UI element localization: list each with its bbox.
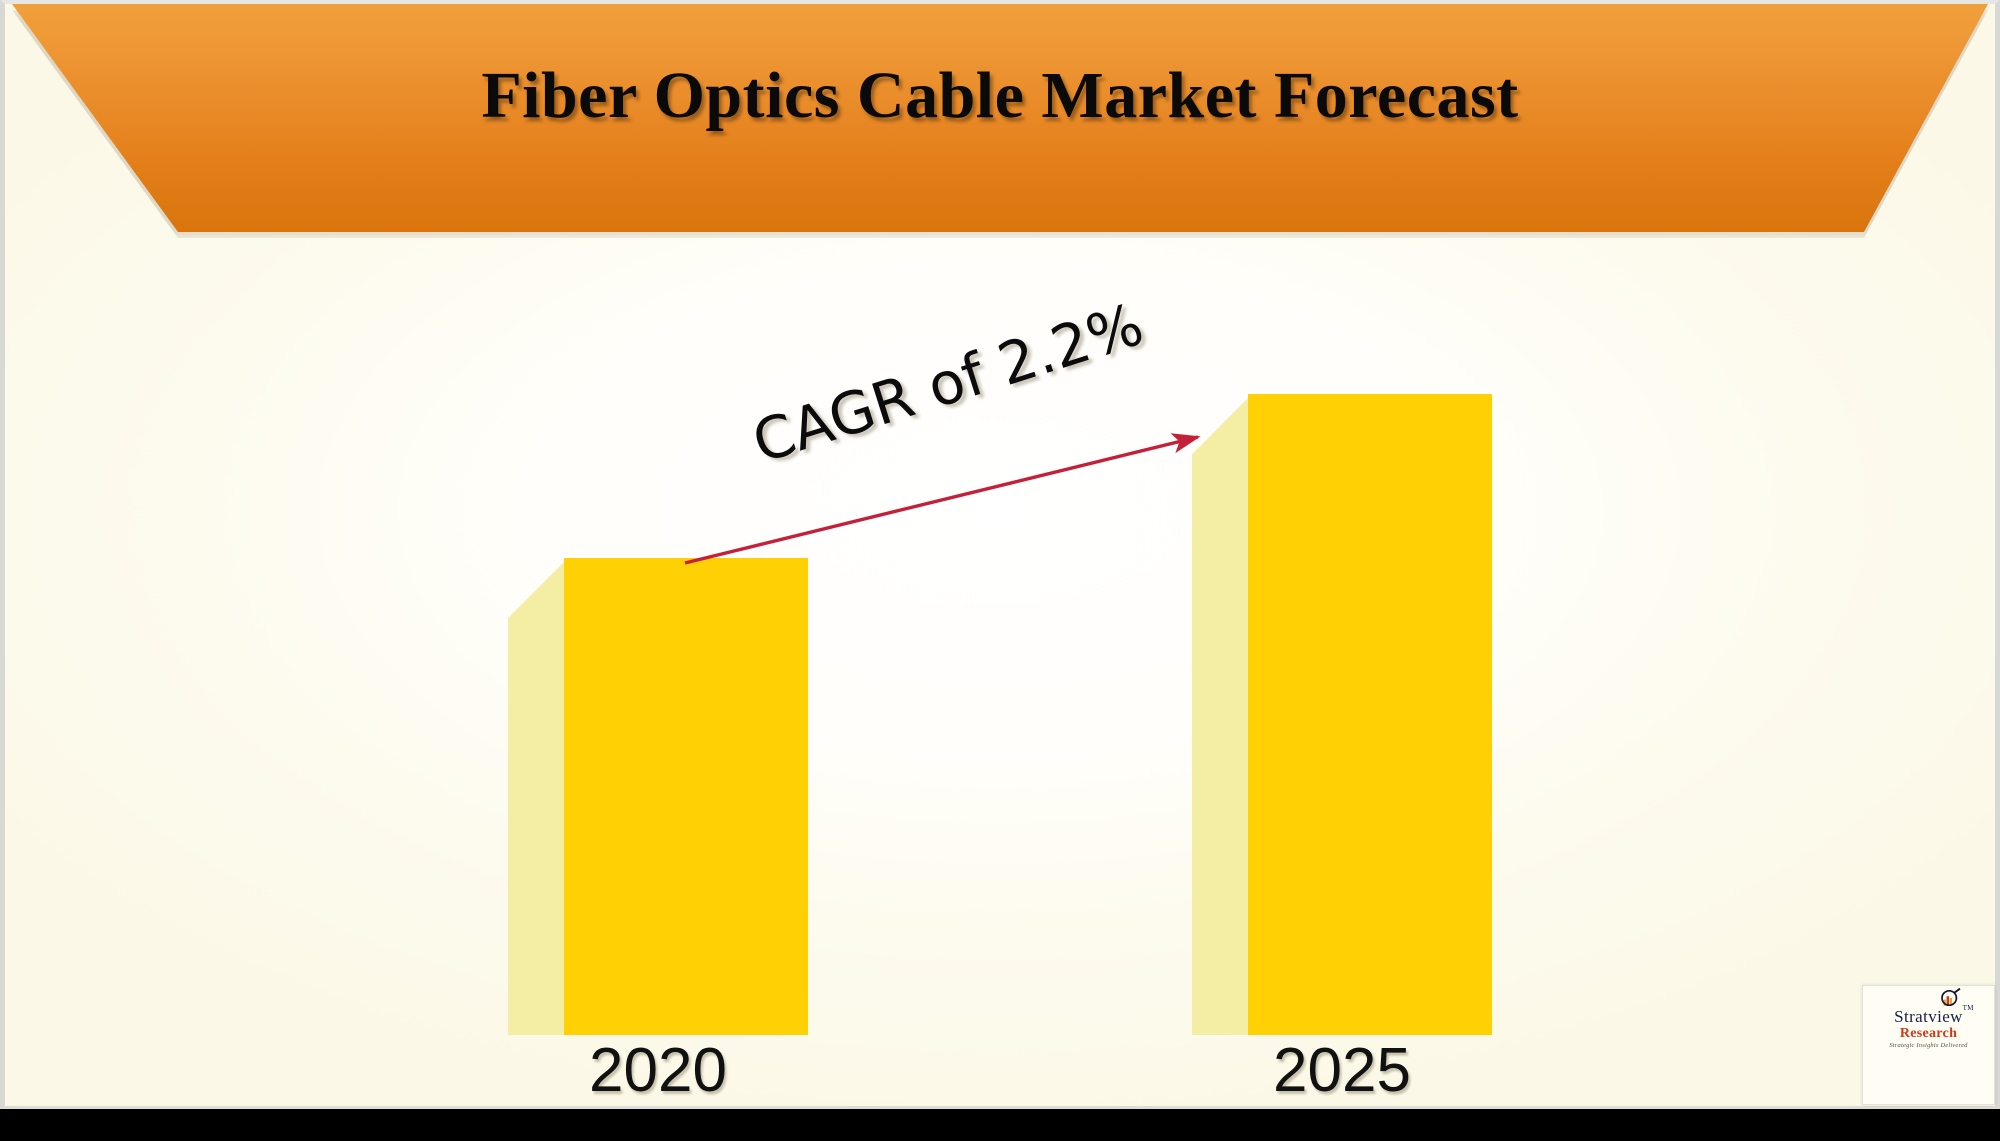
logo-text-block: Stratview TM Research Strategic Insights… <box>1863 1008 1994 1050</box>
logo-tagline: Strategic Insights Delivered <box>1863 1043 1994 1050</box>
bar-side-face-2020 <box>508 558 568 1035</box>
bar-label-2025: 2025 <box>1192 1035 1492 1106</box>
bar-label-2020: 2020 <box>508 1035 808 1106</box>
logo-trademark: TM <box>1963 1005 1974 1012</box>
logo-primary-text: Stratview <box>1894 1007 1963 1026</box>
logo-secondary-name: Research <box>1863 1027 1994 1041</box>
bar-front-face-2025 <box>1248 394 1492 1035</box>
bar-front-face-2020 <box>564 558 808 1035</box>
bottom-black-band <box>0 1109 2000 1141</box>
stratview-logo[interactable]: Stratview TM Research Strategic Insights… <box>1862 985 1995 1105</box>
bar-side-face-2025 <box>1192 394 1252 1035</box>
slide-canvas: Fiber Optics Cable Market Forecast 2020 … <box>0 0 2000 1141</box>
bar-group-2020[interactable] <box>508 558 808 1035</box>
logo-primary-name: Stratview TM <box>1894 1008 1963 1025</box>
bar-chart: 2020 2025 <box>0 0 2000 1109</box>
bar-group-2025[interactable] <box>1192 394 1492 1035</box>
